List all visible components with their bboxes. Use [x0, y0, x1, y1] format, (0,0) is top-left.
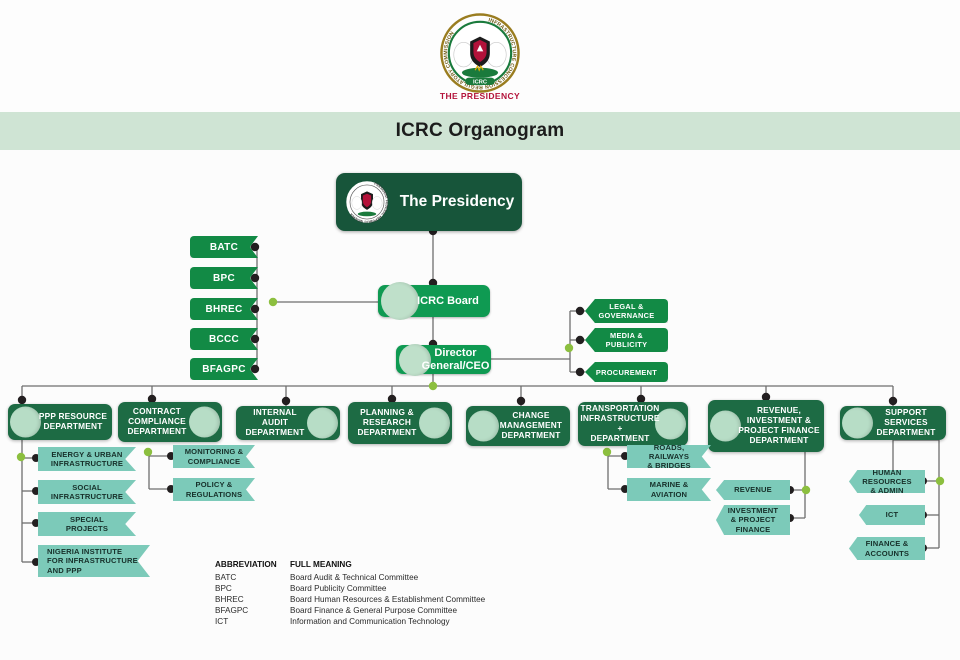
dept-revenue-investment[interactable]: REVENUE,INVESTMENT &PROJECT FINANCE DEPA… [708, 400, 824, 452]
icrc-seal-icon: INFRASTRUCTURE CONCESSION REGULATORY COM… [439, 12, 521, 94]
legend-abbr: BFAGPC [215, 605, 290, 616]
unit-media-publicity[interactable]: MEDIA &PUBLICITY [585, 328, 668, 352]
legend-row: BATC Board Audit & Technical Committee [215, 572, 485, 583]
page-title: ICRC Organogram [396, 120, 565, 142]
committee-batc-label: BATC [210, 242, 238, 253]
legend-row: BHREC Board Human Resources & Establishm… [215, 594, 485, 605]
subunit-policy-regulations[interactable]: POLICY &REGULATIONS [173, 478, 255, 501]
committee-bhrec-label: BHREC [205, 304, 242, 315]
committee-bfagpc[interactable]: BFAGPC [190, 358, 258, 380]
page-header: INFRASTRUCTURE CONCESSION REGULATORY COM… [0, 0, 960, 112]
subunit-monitoring-compliance[interactable]: MONITORING &COMPLIANCE [173, 445, 255, 468]
legend-meaning: Board Human Resources & Establishment Co… [290, 594, 485, 605]
icrc-board-label: ICRC Board [383, 295, 485, 308]
legend-abbr: BATC [215, 572, 290, 583]
legend-meaning: Board Audit & Technical Committee [290, 572, 485, 583]
committee-bpc[interactable]: BPC [190, 267, 258, 289]
unit-procurement-label: PROCUREMENT [596, 368, 657, 377]
dept-internal-audit-label: INTERNAL AUDITDEPARTMENT [236, 408, 314, 437]
subunit-revenue[interactable]: REVENUE [716, 480, 790, 500]
subunit-social-infrastructure[interactable]: SOCIALINFRASTRUCTURE [38, 480, 136, 504]
unit-procurement[interactable]: PROCUREMENT [585, 362, 668, 382]
dept-support-services-label: SUPPORT SERVICESDEPARTMENT [866, 408, 946, 437]
subunit-nigeria-institute-infrastructure-ppp[interactable]: NIGERIA INSTITUTEFOR INFRASTRUCTUREAND P… [38, 545, 150, 577]
legend-row: BFAGPC Board Finance & General Purpose C… [215, 605, 485, 616]
logo-badge-text: ICRC [473, 79, 487, 85]
dept-ppp-resource[interactable]: PPP RESOURCEDEPARTMENT [8, 404, 112, 440]
dept-disc-icon [419, 408, 450, 439]
legend-meaning: Information and Communication Technology [290, 616, 485, 627]
legend-header-meaning: FULL MEANING [290, 560, 485, 572]
committee-bhrec[interactable]: BHREC [190, 298, 258, 320]
dept-change-management[interactable]: CHANGEMANAGEMENTDEPARTMENT [466, 406, 570, 446]
subunit-ict[interactable]: ICT [859, 505, 925, 525]
committee-batc[interactable]: BATC [190, 236, 258, 258]
node-the-presidency[interactable]: PRESIDENT FEDERAL REPUBLIC NIGERIA The P… [336, 173, 522, 231]
node-director-general[interactable]: DirectorGeneral/CEO [396, 345, 491, 374]
node-icrc-board[interactable]: ICRC Board [378, 285, 490, 317]
dept-change-management-label: CHANGEMANAGEMENTDEPARTMENT [496, 411, 566, 440]
legend-row: ICT Information and Communication Techno… [215, 616, 485, 627]
organogram-canvas: INFRASTRUCTURE CONCESSION REGULATORY COM… [0, 0, 960, 660]
unit-media-publicity-label: MEDIA &PUBLICITY [606, 331, 648, 349]
dept-transportation-infrastructure[interactable]: TRANSPORTATIONINFRASTRUCTURE +DEPARTMENT [578, 402, 688, 446]
presidency-label: The Presidency [400, 193, 515, 211]
committee-bpc-label: BPC [213, 273, 235, 284]
dept-ppp-resource-label: PPP RESOURCEDEPARTMENT [35, 412, 111, 432]
dept-revenue-investment-label: REVENUE,INVESTMENT &PROJECT FINANCE DEPA… [734, 406, 824, 445]
dept-contract-compliance-label: CONTRACTCOMPLIANCEDEPARTMENT [123, 407, 190, 436]
committee-bfagpc-label: BFAGPC [202, 364, 245, 375]
dept-disc-icon [468, 411, 499, 442]
presidency-seal-icon: PRESIDENT FEDERAL REPUBLIC NIGERIA [344, 179, 390, 225]
subunit-marine-aviation[interactable]: MARINE &AVIATION [627, 478, 711, 501]
dept-contract-compliance[interactable]: CONTRACTCOMPLIANCEDEPARTMENT [118, 402, 222, 442]
dept-support-services[interactable]: SUPPORT SERVICESDEPARTMENT [840, 406, 946, 440]
committee-bccc[interactable]: BCCC [190, 328, 258, 350]
subunit-roads-railways-bridges[interactable]: ROADS, RAILWAYS& BRIDGES [627, 445, 711, 468]
legend-abbr: ICT [215, 616, 290, 627]
dept-disc-icon [189, 407, 220, 438]
unit-legal-governance-label: LEGAL &GOVERNANCE [599, 302, 655, 320]
dept-internal-audit[interactable]: INTERNAL AUDITDEPARTMENT [236, 406, 340, 440]
dept-transportation-label: TRANSPORTATIONINFRASTRUCTURE +DEPARTMENT [576, 404, 663, 443]
subunit-energy-urban-infrastructure[interactable]: ENERGY & URBANINFRASTRUCTURE [38, 447, 136, 471]
subunit-finance-accounts[interactable]: FINANCE &ACCOUNTS [849, 537, 925, 560]
legend-row: BPC Board Publicity Committee [215, 583, 485, 594]
subunit-special-projects[interactable]: SPECIALPROJECTS [38, 512, 136, 536]
abbreviation-legend: ABBREVIATION FULL MEANING BATC Board Aud… [215, 560, 485, 627]
legend-abbr: BPC [215, 583, 290, 594]
subunit-human-resources-admin[interactable]: HUMAN RESOURCES& ADMIN [849, 470, 925, 493]
presidency-tagline: THE PRESIDENCY [428, 91, 532, 101]
unit-legal-governance[interactable]: LEGAL &GOVERNANCE [585, 299, 668, 323]
legend-header-abbreviation: ABBREVIATION [215, 560, 290, 572]
dept-planning-research[interactable]: PLANNING &RESEARCHDEPARTMENT [348, 402, 452, 444]
committee-bccc-label: BCCC [209, 334, 239, 345]
icrc-logo: INFRASTRUCTURE CONCESSION REGULATORY COM… [428, 12, 532, 101]
dept-planning-research-label: PLANNING &RESEARCHDEPARTMENT [353, 408, 420, 437]
legend-abbr: BHREC [215, 594, 290, 605]
legend-meaning: Board Publicity Committee [290, 583, 485, 594]
subunit-investment-project-finance[interactable]: INVESTMENT& PROJECTFINANCE [716, 505, 790, 535]
director-general-label: DirectorGeneral/CEO [392, 347, 496, 372]
title-banner: ICRC Organogram [0, 112, 960, 150]
legend-meaning: Board Finance & General Purpose Committe… [290, 605, 485, 616]
